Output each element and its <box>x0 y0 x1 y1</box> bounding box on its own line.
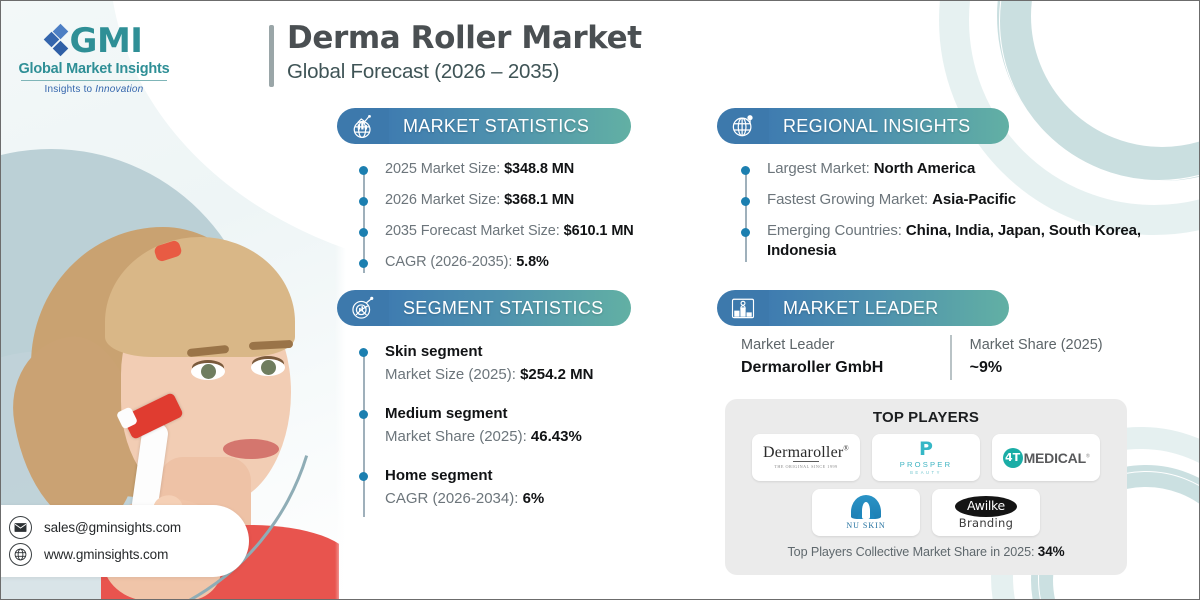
player-logo-dermaroller[interactable]: Dermaroller® THE ORIGINAL SINCE 1999 <box>752 434 860 481</box>
registered-mark: ® <box>1086 453 1089 459</box>
decorative-ring-top-right <box>997 1 1199 181</box>
player-logo-nuskin[interactable]: NU SKIN <box>812 489 920 536</box>
player-name: PROSPER <box>900 461 953 469</box>
player-name: NU SKIN <box>846 522 885 530</box>
section-title-regional-insights: REGIONAL INSIGHTS <box>769 108 1009 144</box>
logo-tagline: Insights to Innovation <box>15 84 173 95</box>
podium-leader-icon <box>717 290 769 326</box>
player-tagline: Branding <box>955 518 1017 530</box>
section-title-market-statistics: MARKET STATISTICS <box>389 108 631 144</box>
registered-mark: ® <box>843 445 849 453</box>
item-value: $610.1 MN <box>564 223 634 239</box>
logo-company-name: Global Market Insights <box>15 61 173 77</box>
player-name: Dermaroller <box>763 444 843 461</box>
section-title-segment-statistics: SEGMENT STATISTICS <box>389 290 631 326</box>
list-market-statistics: 2025 Market Size: $348.8 MN 2026 Market … <box>359 159 699 283</box>
globe-pin-icon <box>717 108 769 144</box>
page-title-block: Derma Roller Market Global Forecast (202… <box>269 19 642 87</box>
diamond-mark-icon <box>46 24 68 58</box>
item-value: 5.8% <box>516 254 549 270</box>
contact-website[interactable]: www.gminsights.com <box>44 547 168 562</box>
item-label: Emerging Countries: <box>767 222 906 239</box>
contact-website-row[interactable]: www.gminsights.com <box>9 541 249 568</box>
list-item: CAGR (2026-2035): 5.8% <box>359 252 699 272</box>
page-title: Derma Roller Market <box>287 19 642 57</box>
market-leader-name-column: Market Leader Dermaroller GmbH <box>741 335 950 380</box>
section-header-market-statistics[interactable]: MARKET STATISTICS <box>337 108 631 144</box>
iris-right <box>261 360 276 375</box>
player-tagline: THE ORIGINAL SINCE 1999 <box>763 465 849 469</box>
segment-metric: Market Size (2025): <box>385 366 520 383</box>
list-regional-insights: Largest Market: North America Fastest Gr… <box>741 159 1171 272</box>
list-item: Home segment CAGR (2026-2034): 6% <box>359 465 699 511</box>
list-segment-statistics: Skin segment Market Size (2025): $254.2 … <box>359 341 699 527</box>
logo-row: NU SKIN Awilke Branding <box>747 489 1105 536</box>
item-label: 2025 Market Size: <box>385 161 504 177</box>
page-subtitle: Global Forecast (2026 – 2035) <box>287 57 642 87</box>
list-item: Medium segment Market Share (2025): 46.4… <box>359 403 699 449</box>
awilke-oval-mark: Awilke <box>955 496 1017 517</box>
top-players-collective-share: Top Players Collective Market Share in 2… <box>725 544 1127 559</box>
player-logo-4t-medical[interactable]: 4T MEDICAL® <box>992 434 1100 481</box>
nuskin-fan-icon <box>851 495 881 519</box>
market-leader-caption: Market Leader <box>741 335 950 356</box>
lips <box>223 439 279 459</box>
item-value: Asia-Pacific <box>932 191 1016 208</box>
player-name: Awilke <box>967 500 1005 513</box>
segment-name: Medium segment <box>385 403 699 425</box>
contact-email[interactable]: sales@gminsights.com <box>44 520 181 535</box>
item-label: 2026 Market Size: <box>385 192 504 208</box>
list-item: Skin segment Market Size (2025): $254.2 … <box>359 341 699 387</box>
player-logo-prosper-beauty[interactable]: P PROSPER BEAUTY <box>872 434 980 481</box>
list-item: 2025 Market Size: $348.8 MN <box>359 159 699 179</box>
prosper-p-icon: P <box>900 440 953 459</box>
list-item: Fastest Growing Market: Asia-Pacific <box>741 190 1171 210</box>
market-leader-value: Dermaroller GmbH <box>741 356 950 380</box>
collective-share-value: 34% <box>1038 544 1065 559</box>
iris-left <box>201 364 216 379</box>
market-share-caption: Market Share (2025) <box>970 335 1161 356</box>
collective-share-label: Top Players Collective Market Share in 2… <box>787 545 1037 559</box>
contact-email-row[interactable]: sales@gminsights.com <box>9 514 249 541</box>
logo-divider <box>21 80 167 81</box>
item-label: Largest Market: <box>767 160 874 177</box>
segment-value: 46.43% <box>531 428 582 445</box>
infographic-canvas: GMI Global Market Insights Insights to I… <box>0 0 1200 600</box>
list-item: Emerging Countries: China, India, Japan,… <box>741 221 1171 261</box>
segment-name: Skin segment <box>385 341 699 363</box>
top-players-panel: TOP PLAYERS Dermaroller® THE ORIGINAL SI… <box>725 399 1127 575</box>
logo-wordmark: GMI <box>70 23 143 59</box>
globe-chart-icon <box>337 108 389 144</box>
segment-value: 6% <box>523 490 545 507</box>
item-label: 2035 Forecast Market Size: <box>385 223 564 239</box>
segment-metric: Market Share (2025): <box>385 428 531 445</box>
eyebrow-right <box>249 340 293 350</box>
player-logo-awilke-branding[interactable]: Awilke Branding <box>932 489 1040 536</box>
item-value: $348.8 MN <box>504 161 574 177</box>
list-item: 2026 Market Size: $368.1 MN <box>359 190 699 210</box>
market-share-column: Market Share (2025) ~9% <box>950 335 1161 380</box>
4t-badge-icon: 4T <box>1003 448 1023 468</box>
item-label: CAGR (2026-2035): <box>385 254 516 270</box>
decorative-ring-top-right-thin <box>999 1 1199 181</box>
gmi-logo[interactable]: GMI Global Market Insights Insights to I… <box>15 23 173 95</box>
item-value: North America <box>874 160 976 177</box>
player-tagline: BEAUTY <box>900 471 953 475</box>
contact-bar: sales@gminsights.com www.gminsights.com <box>0 505 249 577</box>
segment-value: $254.2 MN <box>520 366 593 383</box>
section-header-segment-statistics[interactable]: SEGMENT STATISTICS <box>337 290 631 326</box>
market-leader-detail: Market Leader Dermaroller GmbH Market Sh… <box>741 335 1161 380</box>
logo-tagline-prefix: Insights to <box>45 84 96 95</box>
player-name: MEDICAL <box>1024 450 1086 466</box>
pie-chart-target-icon <box>337 290 389 326</box>
section-header-regional-insights[interactable]: REGIONAL INSIGHTS <box>717 108 1009 144</box>
section-header-market-leader[interactable]: MARKET LEADER <box>717 290 1009 326</box>
logo-rule <box>793 461 819 462</box>
section-title-market-leader: MARKET LEADER <box>769 290 1009 326</box>
top-players-title: TOP PLAYERS <box>725 399 1127 426</box>
logo-tagline-italic: Innovation <box>95 84 143 95</box>
logo-row: Dermaroller® THE ORIGINAL SINCE 1999 P P… <box>747 434 1105 481</box>
globe-icon <box>9 543 32 566</box>
logo-lockup: GMI <box>15 23 173 59</box>
top-players-logo-grid: Dermaroller® THE ORIGINAL SINCE 1999 P P… <box>725 426 1127 536</box>
list-item: Largest Market: North America <box>741 159 1171 179</box>
segment-name: Home segment <box>385 465 699 487</box>
segment-metric: CAGR (2026-2034): <box>385 490 523 507</box>
item-label: Fastest Growing Market: <box>767 191 932 208</box>
envelope-icon <box>9 516 32 539</box>
list-item: 2035 Forecast Market Size: $610.1 MN <box>359 221 699 241</box>
market-share-value: ~9% <box>970 356 1161 380</box>
item-value: $368.1 MN <box>504 192 574 208</box>
